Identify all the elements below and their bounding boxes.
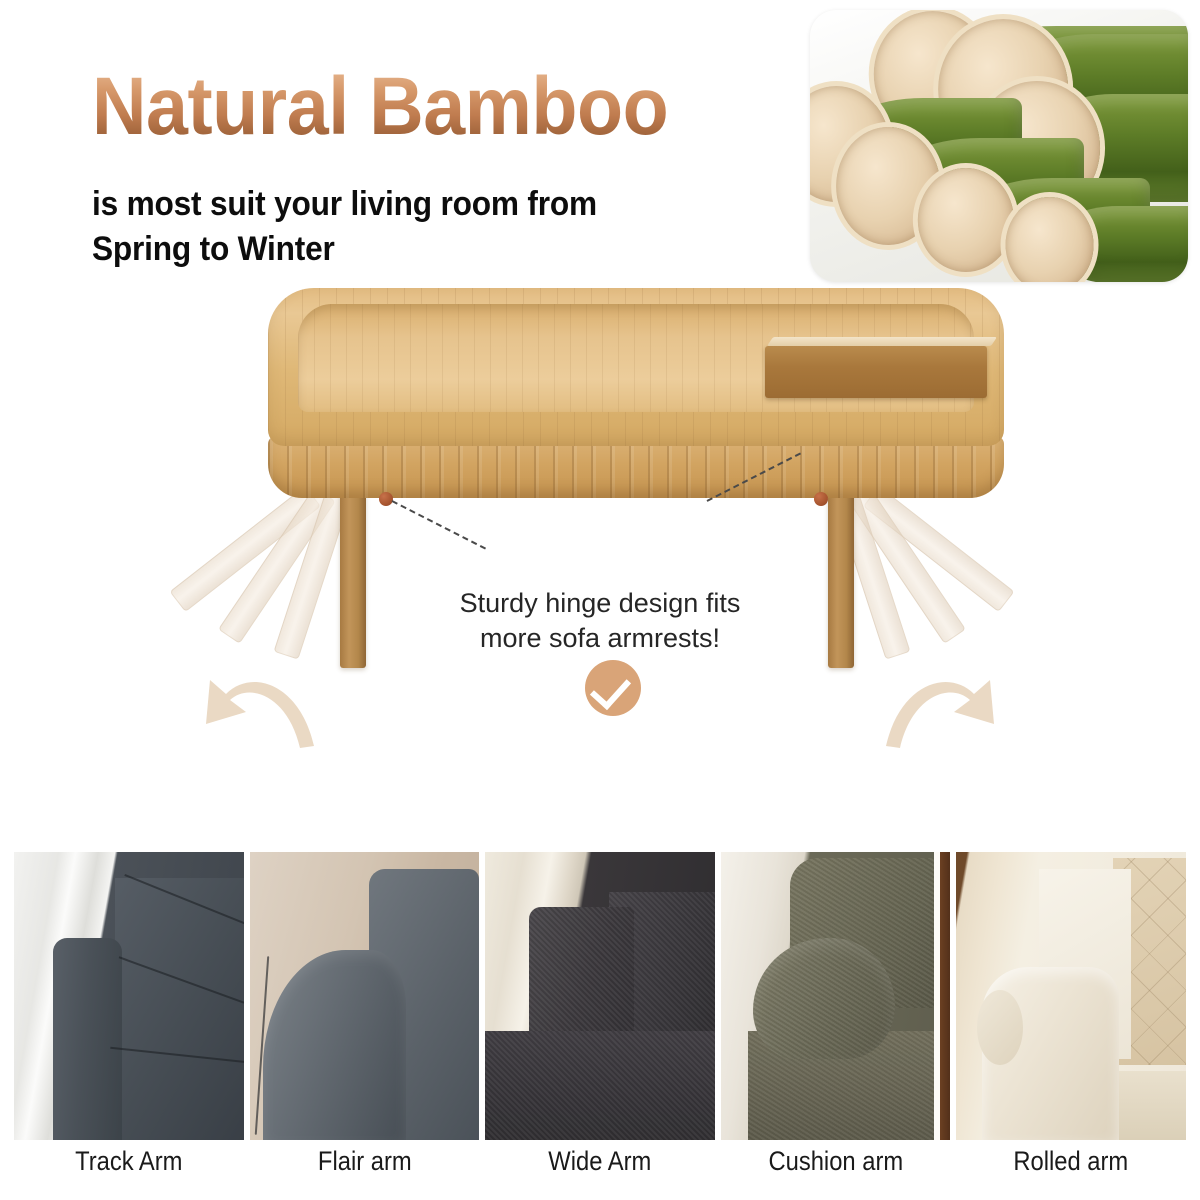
armrest-caption: Track Arm [28,1146,230,1177]
section-banner-text: FIT VARIETY OF ARMREST COUCH [171,762,1029,820]
armrest-tile[interactable] [721,852,951,1140]
curved-arrow-right-icon [876,650,1004,760]
infographic-page: Natural Bamboo is most suit your living … [0,0,1200,1200]
armrest-caption-row: Track Arm Flair arm Wide Arm Cushion arm… [14,1146,1186,1177]
hinge-dot-right [814,492,828,506]
sofa-seat [485,1031,715,1140]
table-top [268,288,1004,446]
leader-line-left [392,500,486,549]
rolled-arm-knob [977,990,1023,1065]
sofa-back [115,878,244,1140]
armrest-photo-grid [14,852,1186,1140]
sofa-arm [753,938,895,1059]
sofa-arm [53,938,122,1140]
armrest-caption: Rolled arm [970,1146,1172,1177]
wood-trim [934,852,950,1140]
page-title: Natural Bamboo [92,66,668,148]
armrest-tile[interactable] [250,852,480,1140]
hinge-dot-left [379,492,393,506]
curved-arrow-left-icon [196,650,324,760]
flair-arm-sofa-photo [250,852,480,1140]
rolled-arm-sofa-photo [956,852,1186,1140]
device-slot [765,346,987,398]
armrest-caption: Cushion arm [735,1146,937,1177]
sofa-arm [263,950,405,1140]
cushion-arm-sofa-photo [721,852,951,1140]
track-arm-sofa-photo [14,852,244,1140]
armrest-tile[interactable] [956,852,1186,1140]
hero-subtitle: is most suit your living room from Sprin… [92,182,597,272]
armrest-tile[interactable] [14,852,244,1140]
bamboo-sofa-arm-tray-table: Sturdy hinge design fits more sofa armre… [0,278,1200,758]
check-icon [585,660,641,716]
armrest-tile[interactable] [485,852,715,1140]
armrest-caption: Flair arm [263,1146,465,1177]
section-banner: FIT VARIETY OF ARMREST COUCH [0,762,1200,820]
bamboo-culm [1046,206,1188,282]
wide-arm-sofa-photo [485,852,715,1140]
bamboo-culms-photo [810,10,1188,282]
armrest-caption: Wide Arm [499,1146,701,1177]
hinge-note: Sturdy hinge design fits more sofa armre… [0,586,1200,655]
